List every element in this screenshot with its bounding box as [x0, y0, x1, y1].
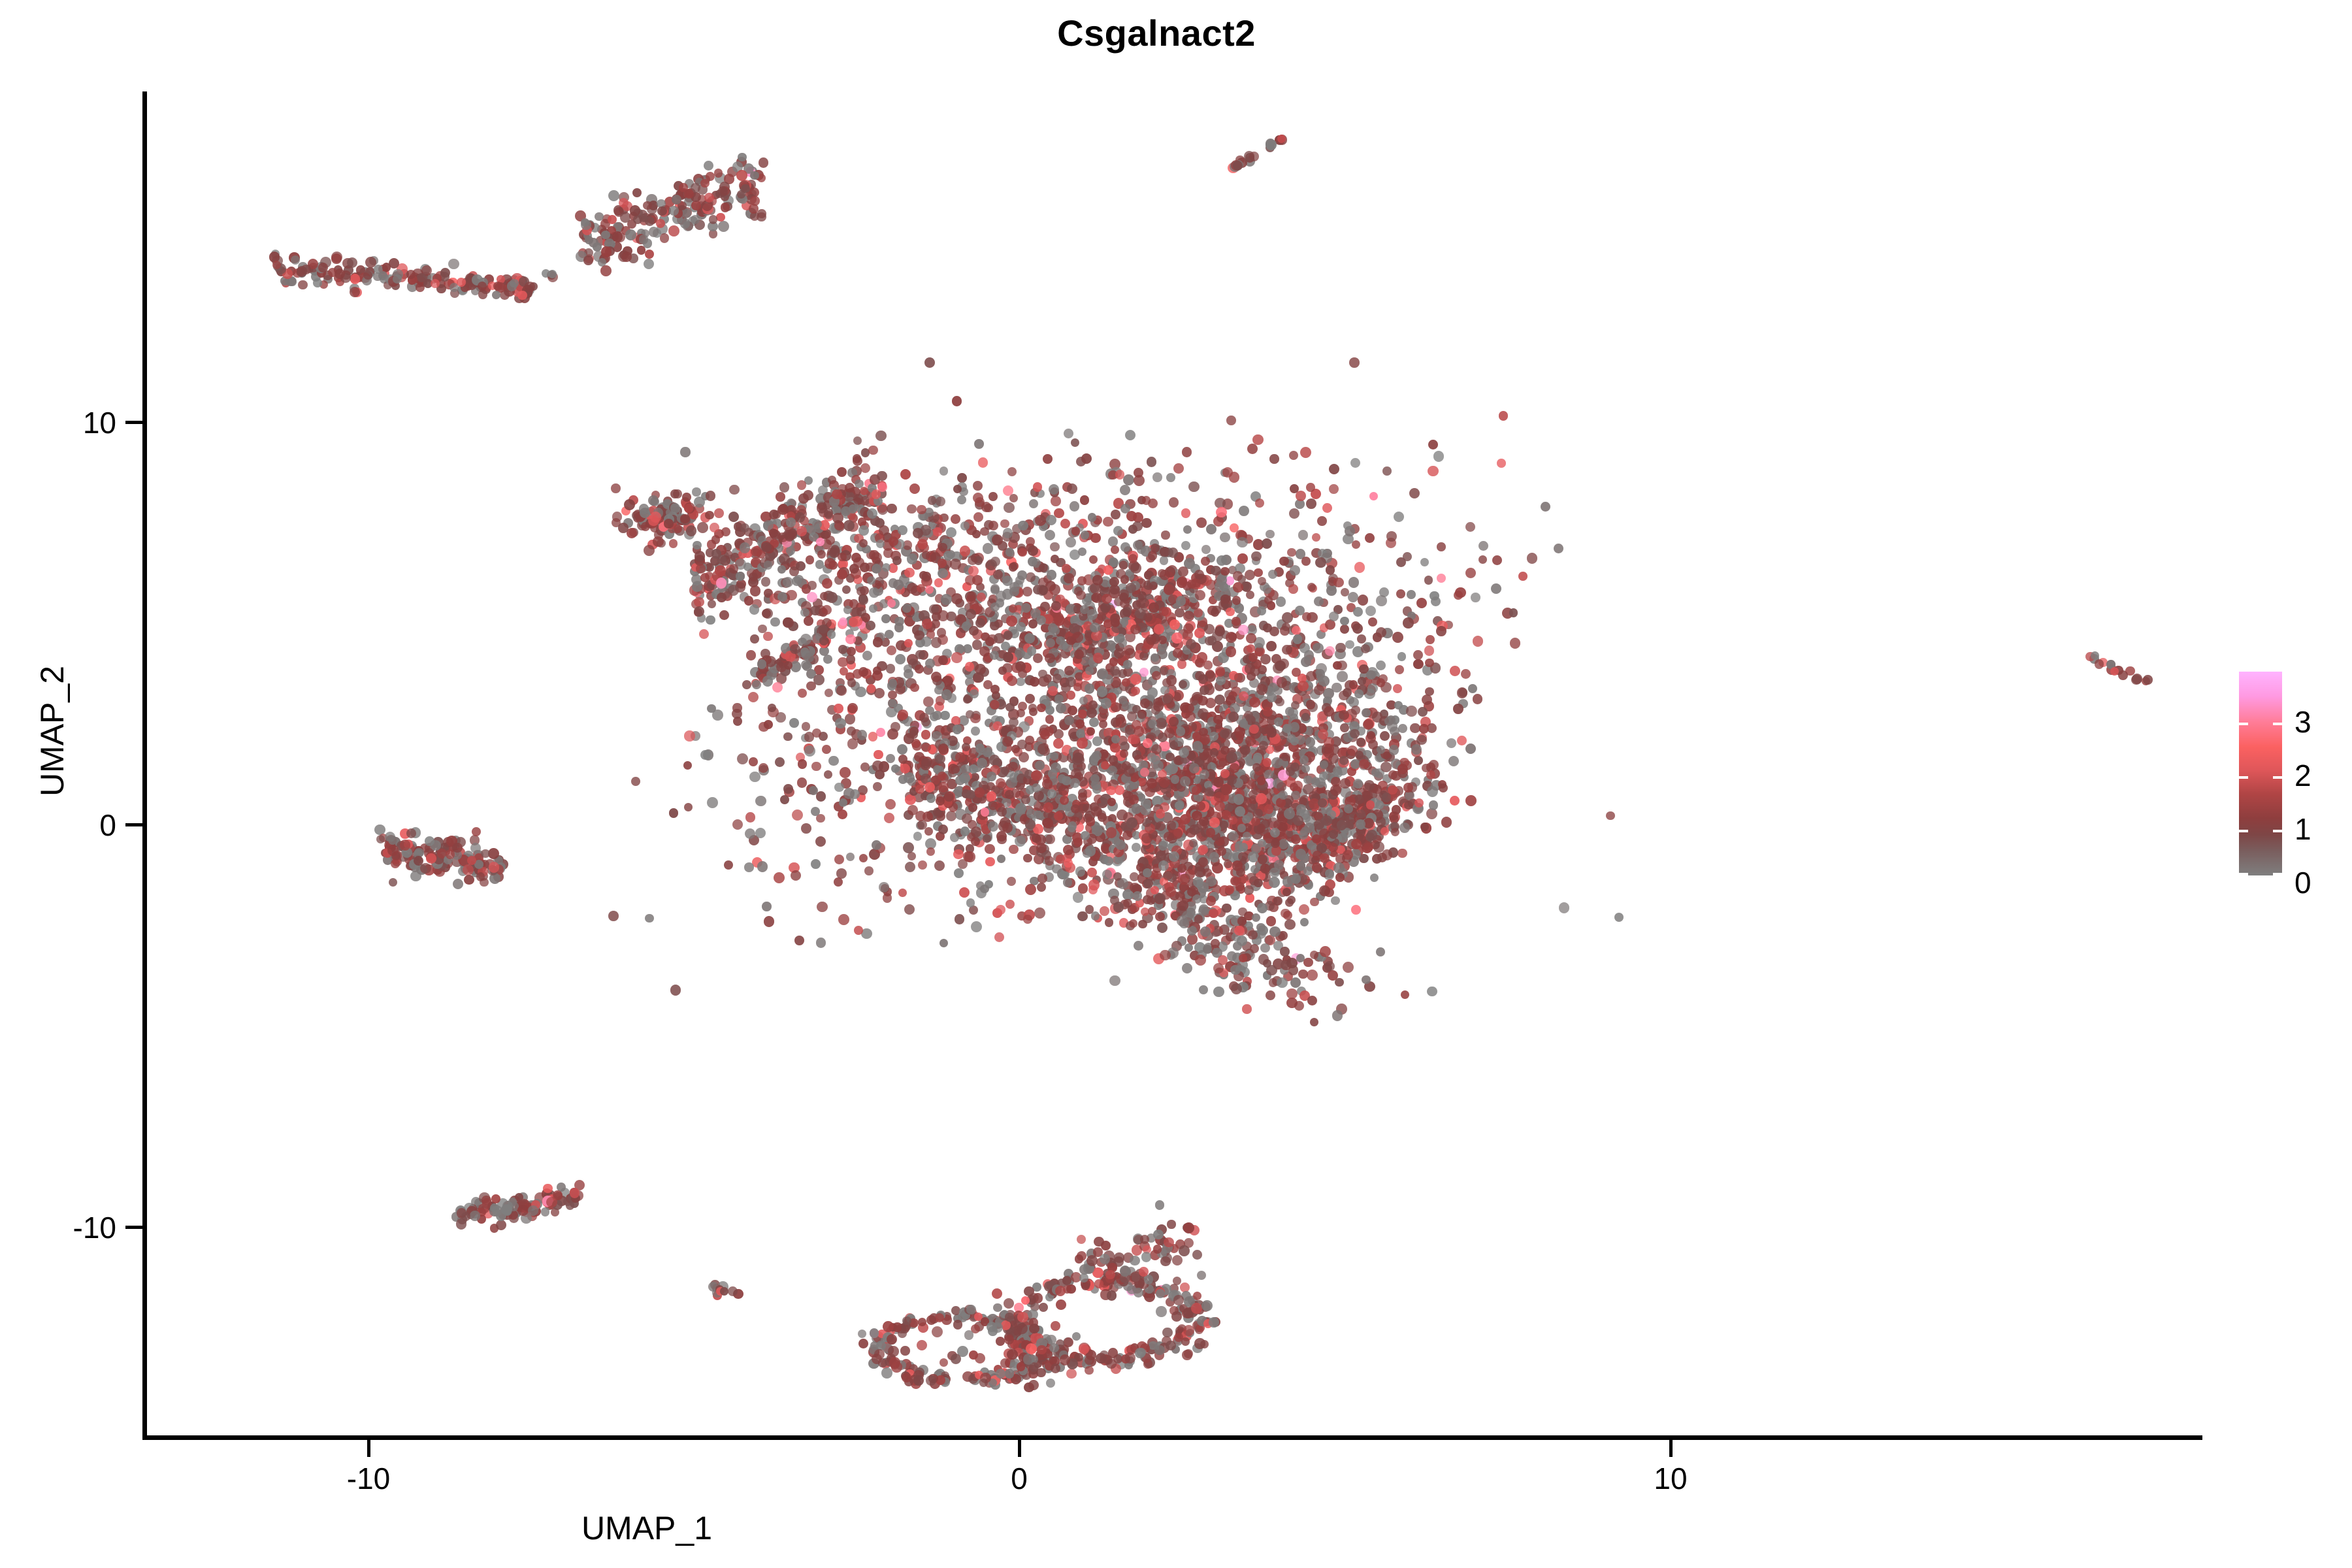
- scatter-point: [1181, 508, 1191, 518]
- scatter-point: [1298, 530, 1309, 540]
- scatter-point: [440, 268, 450, 278]
- scatter-point: [1083, 813, 1092, 823]
- scatter-point: [918, 860, 927, 870]
- scatter-point: [706, 615, 715, 625]
- scatter-point: [1163, 871, 1172, 880]
- scatter-point: [714, 169, 723, 178]
- scatter-point: [795, 512, 806, 523]
- scatter-point: [1317, 516, 1327, 526]
- scatter-point: [1234, 926, 1245, 936]
- scatter-point: [837, 467, 847, 477]
- scatter-point: [1280, 947, 1289, 956]
- scatter-point: [1147, 687, 1158, 698]
- scatter-point: [1428, 466, 1439, 477]
- scatter-point: [601, 246, 612, 257]
- scatter-point: [1258, 855, 1267, 864]
- scatter-point: [318, 263, 328, 272]
- scatter-point: [457, 278, 466, 287]
- scatter-point: [1009, 717, 1019, 727]
- scatter-point: [962, 743, 970, 751]
- scatter-point: [1331, 896, 1339, 905]
- scatter-point: [1377, 678, 1385, 687]
- scatter-point: [1353, 607, 1363, 617]
- scatter-point: [1395, 665, 1404, 674]
- scatter-point: [1147, 457, 1156, 466]
- scatter-point: [1356, 809, 1365, 819]
- scatter-point: [1211, 939, 1220, 948]
- scatter-point: [1397, 764, 1408, 774]
- scatter-point: [347, 257, 357, 268]
- scatter-point: [807, 592, 817, 602]
- scatter-point: [951, 765, 959, 774]
- scatter-point: [921, 636, 932, 647]
- scatter-point: [960, 546, 971, 557]
- scatter-panel[interactable]: [147, 91, 2202, 1435]
- scatter-point: [1226, 416, 1235, 425]
- scatter-point: [1152, 671, 1161, 680]
- scatter-point: [1209, 732, 1218, 741]
- scatter-point: [938, 825, 949, 835]
- scatter-point: [1306, 483, 1315, 492]
- scatter-point: [1332, 1010, 1343, 1021]
- scatter-point: [1394, 512, 1404, 522]
- scatter-point: [1282, 612, 1293, 623]
- plot-title: Csgalnact2: [0, 12, 2352, 54]
- scatter-point: [1109, 975, 1120, 987]
- scatter-point: [1238, 907, 1247, 916]
- scatter-point: [1220, 821, 1228, 829]
- scatter-point: [715, 565, 726, 576]
- scatter-point: [706, 491, 715, 500]
- scatter-point: [693, 541, 701, 549]
- scatter-point: [741, 184, 749, 193]
- scatter-point: [1029, 708, 1037, 716]
- scatter-point: [921, 730, 930, 739]
- scatter-point: [838, 809, 847, 819]
- scatter-point: [1298, 681, 1308, 691]
- scatter-point: [784, 661, 792, 670]
- scatter-point: [1138, 920, 1147, 929]
- scatter-point: [841, 506, 851, 516]
- scatter-point: [922, 551, 930, 559]
- scatter-point: [1120, 485, 1130, 495]
- scatter-point: [1025, 694, 1035, 704]
- scatter-point: [1160, 950, 1170, 960]
- scatter-point: [854, 926, 863, 935]
- scatter-point: [921, 758, 931, 768]
- scatter-point: [620, 212, 631, 223]
- scatter-point: [1089, 555, 1098, 564]
- scatter-point: [904, 568, 914, 578]
- scatter-point: [1461, 669, 1471, 679]
- scatter-point: [1251, 551, 1261, 561]
- scatter-point: [890, 722, 900, 732]
- scatter-point: [859, 854, 868, 862]
- scatter-point: [1299, 904, 1309, 915]
- scatter-point: [1266, 139, 1276, 150]
- scatter-point: [709, 215, 717, 223]
- scatter-point: [699, 629, 709, 639]
- scatter-point: [1158, 841, 1168, 850]
- scatter-point: [1418, 707, 1428, 717]
- scatter-point: [974, 439, 984, 449]
- scatter-point: [1230, 965, 1240, 975]
- scatter-point: [936, 497, 945, 506]
- scatter-point: [941, 594, 952, 605]
- scatter-point: [801, 823, 811, 834]
- scatter-point: [1213, 987, 1224, 998]
- scatter-point: [1156, 718, 1167, 729]
- scatter-point: [1143, 895, 1152, 904]
- scatter-point: [895, 654, 906, 664]
- scatter-point: [1140, 768, 1149, 777]
- scatter-point: [1062, 564, 1071, 573]
- scatter-point: [608, 911, 619, 921]
- scatter-point: [1167, 821, 1176, 830]
- scatter-point: [1413, 659, 1423, 669]
- scatter-point: [907, 852, 917, 861]
- scatter-point: [1067, 483, 1077, 494]
- scatter-point: [935, 754, 945, 764]
- scatter-point: [1242, 1004, 1251, 1013]
- scatter-point: [631, 777, 640, 786]
- scatter-point: [1003, 528, 1013, 538]
- scatter-point: [1351, 706, 1360, 714]
- scatter-point: [1468, 684, 1477, 693]
- scatter-point: [694, 497, 705, 508]
- scatter-point: [835, 718, 846, 729]
- scatter-point: [1353, 779, 1363, 789]
- scatter-point: [1247, 444, 1258, 454]
- scatter-point: [1249, 725, 1259, 734]
- scatter-point: [988, 492, 998, 501]
- scatter-point: [1251, 843, 1261, 853]
- scatter-point: [729, 485, 739, 495]
- scatter-point: [1300, 918, 1309, 926]
- scatter-point: [1070, 501, 1079, 511]
- scatter-point: [817, 550, 826, 559]
- scatter-point: [749, 604, 760, 615]
- scatter-point: [997, 855, 1006, 864]
- scatter-point: [1078, 883, 1088, 893]
- scatter-point: [1310, 1018, 1318, 1026]
- scatter-point: [1364, 843, 1373, 852]
- scatter-point: [884, 813, 894, 823]
- scatter-point: [1097, 686, 1108, 697]
- scatter-point: [1369, 492, 1379, 501]
- scatter-point: [1306, 498, 1316, 509]
- scatter-point: [860, 463, 870, 473]
- scatter-point: [1026, 809, 1036, 819]
- scatter-point: [645, 914, 653, 923]
- scatter-point: [1222, 904, 1232, 913]
- scatter-point: [847, 703, 858, 713]
- scatter-point: [1237, 553, 1247, 563]
- scatter-point: [764, 561, 773, 570]
- scatter-point: [1319, 828, 1330, 839]
- scatter-point: [1068, 706, 1077, 715]
- scatter-point: [1354, 689, 1364, 698]
- scatter-point: [932, 711, 941, 720]
- scatter-point: [887, 504, 896, 514]
- scatter-point: [1352, 623, 1363, 634]
- scatter-point: [714, 508, 724, 518]
- scatter-point: [1156, 809, 1165, 818]
- scatter-point: [987, 791, 997, 802]
- scatter-point: [1177, 915, 1188, 926]
- scatter-point: [1188, 482, 1200, 493]
- scatter-point: [1148, 498, 1158, 508]
- scatter-point: [1465, 568, 1476, 578]
- scatter-point: [1304, 823, 1315, 833]
- scatter-point: [1132, 843, 1141, 852]
- scatter-point: [1340, 723, 1349, 732]
- scatter-point: [872, 760, 883, 772]
- scatter-point: [1125, 430, 1135, 440]
- scatter-point: [791, 870, 801, 881]
- scatter-point: [670, 489, 679, 498]
- scatter-point: [1450, 666, 1460, 676]
- scatter-point: [1113, 902, 1124, 913]
- scatter-point: [1425, 687, 1434, 696]
- scatter-point: [808, 581, 816, 589]
- scatter-point: [1111, 546, 1119, 554]
- scatter-point: [1303, 866, 1312, 875]
- scatter-point: [1152, 472, 1162, 482]
- scatter-point: [1078, 547, 1086, 556]
- scatter-point: [365, 257, 376, 268]
- scatter-point: [1213, 963, 1224, 973]
- scatter-point: [762, 676, 773, 686]
- scatter-point: [1092, 751, 1102, 760]
- scatter-point: [732, 819, 743, 830]
- scatter-point: [909, 730, 919, 739]
- scatter-point: [1196, 517, 1207, 528]
- scatter-point: [794, 936, 804, 945]
- scatter-point: [1450, 796, 1460, 806]
- scatter-point: [1382, 466, 1392, 476]
- scatter-point: [1169, 717, 1178, 726]
- scatter-point: [838, 645, 847, 654]
- scatter-point: [1004, 502, 1015, 514]
- scatter-point: [1282, 645, 1292, 655]
- scatter-point: [1009, 494, 1018, 502]
- scatter-point: [653, 536, 663, 547]
- scatter-point: [1301, 557, 1311, 566]
- scatter-point: [1315, 557, 1326, 568]
- scatter-point: [1433, 451, 1444, 461]
- scatter-point: [994, 932, 1005, 943]
- scatter-point: [721, 203, 730, 212]
- scatter-point: [593, 242, 601, 251]
- scatter-point: [1120, 749, 1128, 758]
- scatter-point: [1109, 755, 1118, 764]
- scatter-point: [755, 828, 766, 838]
- scatter-point: [711, 535, 721, 544]
- scatter-point: [1130, 674, 1141, 685]
- scatter-point: [1399, 823, 1410, 833]
- scatter-point: [1256, 684, 1267, 695]
- scatter-point: [1047, 789, 1056, 798]
- scatter-point: [869, 604, 877, 613]
- scatter-point: [1302, 612, 1311, 621]
- scatter-point: [1175, 801, 1184, 810]
- scatter-point: [774, 872, 785, 883]
- scatter-point: [742, 680, 752, 690]
- scatter-point: [1414, 756, 1423, 765]
- scatter-point: [1441, 817, 1452, 828]
- scatter-point: [1064, 858, 1073, 868]
- scatter-point: [797, 777, 808, 788]
- scatter-point: [1509, 608, 1518, 617]
- scatter-point: [1134, 941, 1143, 951]
- scatter-point: [1380, 762, 1391, 772]
- scatter-point: [1206, 896, 1216, 906]
- scatter-point: [1237, 537, 1248, 548]
- scatter-point: [783, 577, 793, 587]
- scatter-point: [1179, 747, 1189, 758]
- scatter-point: [1050, 542, 1059, 551]
- scatter-point: [705, 511, 713, 519]
- scatter-point: [1205, 787, 1214, 796]
- scatter-point: [847, 678, 856, 687]
- scatter-point: [1420, 823, 1429, 831]
- scatter-point: [1337, 820, 1347, 830]
- scatter-point: [875, 431, 886, 441]
- scatter-point: [993, 721, 1002, 730]
- scatter-point: [611, 483, 621, 493]
- scatter-point: [1437, 574, 1446, 583]
- scatter-point: [1166, 887, 1176, 897]
- scatter-point: [717, 555, 727, 564]
- scatter-point: [1386, 531, 1397, 542]
- scatter-point: [816, 538, 825, 546]
- scatter-point: [1028, 557, 1037, 566]
- scatter-point: [869, 587, 879, 598]
- scatter-point: [1361, 644, 1370, 653]
- scatter-point: [1200, 685, 1209, 695]
- scatter-point: [492, 291, 500, 299]
- scatter-point: [1085, 845, 1096, 856]
- scatter-point: [985, 844, 994, 854]
- scatter-point: [775, 757, 785, 767]
- scatter-point: [1192, 811, 1202, 821]
- scatter-point: [1258, 954, 1269, 965]
- scatter-point: [1416, 598, 1427, 608]
- scatter-point: [625, 229, 636, 240]
- scatter-point: [1026, 572, 1036, 582]
- scatter-point: [1397, 652, 1407, 661]
- scatter-point: [822, 745, 831, 754]
- scatter-point: [1419, 724, 1429, 734]
- scatter-point: [1160, 556, 1169, 565]
- scatter-point: [1113, 526, 1123, 536]
- scatter-point: [971, 921, 982, 932]
- scatter-point: [1242, 815, 1250, 824]
- scatter-point: [1100, 906, 1109, 916]
- scatter-point: [700, 179, 710, 188]
- scatter-point: [769, 529, 778, 538]
- scatter-point: [1075, 866, 1086, 877]
- scatter-point: [1329, 612, 1339, 621]
- scatter-point: [1051, 496, 1061, 506]
- scatter-point: [1141, 833, 1152, 844]
- scatter-point: [1126, 817, 1137, 828]
- scatter-point: [772, 682, 783, 693]
- scatter-point: [680, 514, 690, 524]
- scatter-point: [797, 480, 807, 490]
- scatter-point: [1324, 706, 1334, 717]
- scatter-point: [1384, 717, 1394, 726]
- scatter-point: [898, 889, 907, 897]
- scatter-point: [1266, 916, 1276, 926]
- scatter-point: [1389, 811, 1398, 821]
- scatter-point: [692, 487, 700, 496]
- scatter-point: [738, 153, 746, 161]
- scatter-point: [953, 849, 964, 860]
- scatter-point: [719, 610, 729, 620]
- scatter-point: [1179, 680, 1187, 689]
- scatter-point: [873, 782, 882, 791]
- scatter-point: [670, 985, 681, 995]
- scatter-point: [759, 157, 768, 167]
- scatter-point: [826, 592, 838, 603]
- scatter-point: [682, 493, 691, 501]
- scatter-point: [645, 216, 655, 226]
- scatter-point: [964, 851, 975, 862]
- scatter-point: [838, 553, 846, 561]
- scatter-point: [649, 227, 659, 237]
- scatter-point: [1398, 724, 1407, 733]
- scatter-point: [1321, 815, 1332, 826]
- scatter-point: [1106, 827, 1117, 838]
- scatter-point: [1420, 558, 1429, 566]
- scatter-point: [838, 914, 849, 925]
- scatter-point: [1271, 757, 1282, 768]
- scatter-point: [1373, 632, 1382, 642]
- scatter-point: [1266, 965, 1277, 975]
- scatter-point: [1406, 706, 1417, 717]
- scatter-point: [842, 585, 851, 594]
- scatter-point: [1091, 911, 1100, 920]
- scatter-point: [783, 732, 792, 742]
- scatter-point: [1349, 680, 1358, 689]
- scatter-point: [1148, 907, 1156, 915]
- scatter-point: [1081, 453, 1092, 464]
- scatter-point: [1375, 800, 1384, 809]
- scatter-point: [1292, 626, 1301, 635]
- scatter-point: [1260, 654, 1271, 664]
- scatter-point: [983, 543, 994, 554]
- scatter-point: [868, 446, 878, 455]
- scatter-point: [1078, 792, 1087, 802]
- scatter-point: [907, 805, 918, 815]
- scatter-point: [786, 517, 796, 527]
- scatter-point: [669, 539, 678, 547]
- scatter-point: [1168, 547, 1178, 557]
- scatter-point: [1316, 663, 1327, 674]
- scatter-point: [823, 655, 832, 664]
- scatter-point: [1180, 776, 1190, 787]
- scatter-point: [798, 759, 807, 768]
- scatter-point: [630, 205, 640, 216]
- scatter-point: [301, 265, 310, 274]
- scatter-point: [745, 812, 755, 822]
- scatter-point: [792, 809, 803, 821]
- scatter-point: [1329, 484, 1339, 494]
- scatter-point: [980, 527, 989, 536]
- scatter-point: [1275, 698, 1284, 706]
